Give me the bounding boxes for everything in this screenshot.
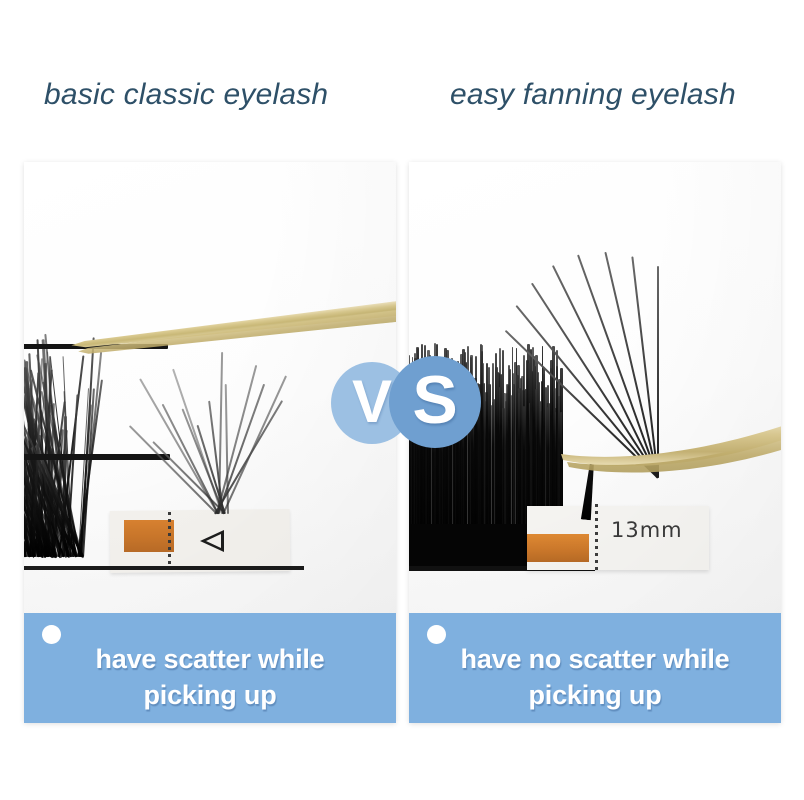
caption-text-left: have scatter while picking up: [24, 641, 396, 713]
panel-heading-right: easy fanning eyelash: [404, 70, 804, 120]
caption-bar-left: have scatter while picking up: [24, 613, 396, 723]
caption-line-1: have no scatter while: [419, 641, 771, 677]
caption-line-2: picking up: [419, 677, 771, 713]
panel-heading-left: basic classic eyelash: [0, 70, 404, 120]
caption-text-right: have no scatter while picking up: [409, 641, 781, 713]
vs-letter-s: S: [389, 356, 481, 448]
headings-row: basic classic eyelash easy fanning eyela…: [0, 70, 804, 120]
vs-badge: V S: [331, 356, 473, 452]
tweezer-blade-upper: [561, 418, 781, 466]
measurement-label: 13mm: [611, 518, 683, 542]
orange-adhesive-strip-right: [527, 534, 589, 562]
curved-tweezer: [557, 410, 781, 480]
bullet-dot-icon: [427, 625, 446, 644]
caption-line-1: have scatter while: [34, 641, 386, 677]
bullet-dot-icon: [42, 625, 61, 644]
caption-line-2: picking up: [34, 677, 386, 713]
dotted-measure-line-right: [595, 504, 598, 570]
caption-bar-right: have no scatter while picking up: [409, 613, 781, 723]
